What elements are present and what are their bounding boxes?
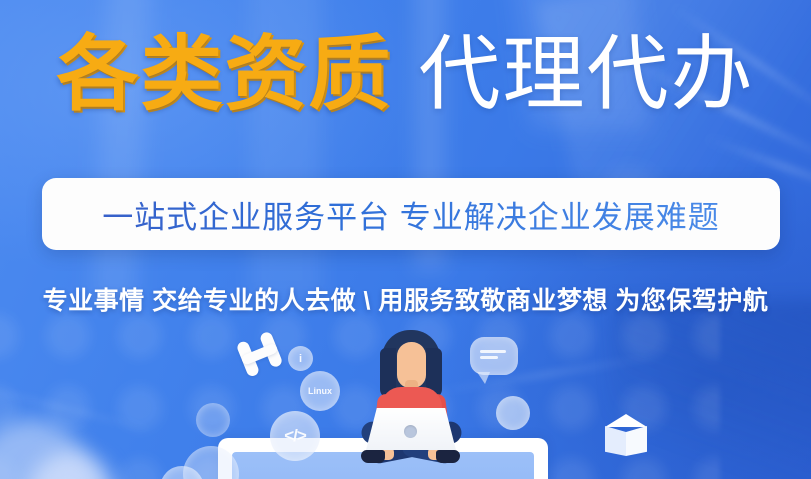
background-streak [0, 381, 158, 433]
code-icon: </> [270, 411, 320, 461]
hair-left [380, 348, 396, 398]
background-blob [28, 452, 114, 479]
subtitle-box: 一站式企业服务平台 专业解决企业发展难题 [42, 178, 780, 250]
monitor-frame [218, 438, 548, 479]
promo-banner: 各类资质代理代办 一站式企业服务平台 专业解决企业发展难题 专业事情 交给专业的… [0, 0, 811, 479]
decorative-bubble [160, 466, 204, 479]
leg-left [359, 419, 421, 454]
background-streak [431, 354, 659, 395]
headline-plain: 代理代办 [419, 34, 755, 116]
neck [405, 380, 418, 394]
torso [381, 387, 442, 431]
linux-badge-icon: Linux [300, 371, 340, 411]
shoe-left [361, 450, 385, 463]
decorative-bubble [183, 446, 239, 479]
decorative-bubble [196, 403, 230, 437]
headline-accent: 各类资质 [56, 34, 392, 116]
monitor-screen [232, 452, 534, 479]
pause-circle-icon [496, 396, 530, 430]
hair-right [426, 348, 442, 398]
speech-bubble-lines [480, 350, 508, 362]
arm-right [428, 393, 450, 433]
shoe-right [436, 450, 460, 463]
face [397, 342, 426, 388]
ankle-left [379, 447, 394, 460]
subtitle-text: 一站式企业服务平台 专业解决企业发展难题 [102, 192, 720, 237]
speech-bubble-icon [470, 337, 518, 375]
shin-right [401, 437, 455, 465]
cube-icon [605, 414, 647, 462]
h-logo-icon [233, 329, 287, 379]
ankle-right [428, 447, 443, 460]
background-dot-pattern [0, 300, 720, 479]
laptop [366, 408, 456, 450]
laptop-logo [404, 425, 417, 438]
hair [382, 330, 440, 392]
background-wedge [610, 300, 811, 479]
tagline-text: 专业事情 交给专业的人去做 \ 用服务致敬商业梦想 为您保驾护航 [0, 281, 811, 317]
person-illustration [352, 330, 470, 479]
info-icon: i [288, 346, 313, 371]
arm-left [374, 393, 396, 433]
shin-left [369, 437, 423, 465]
page-title: 各类资质代理代办 [0, 34, 811, 116]
leg-right [402, 419, 464, 454]
background-blob [0, 420, 90, 479]
